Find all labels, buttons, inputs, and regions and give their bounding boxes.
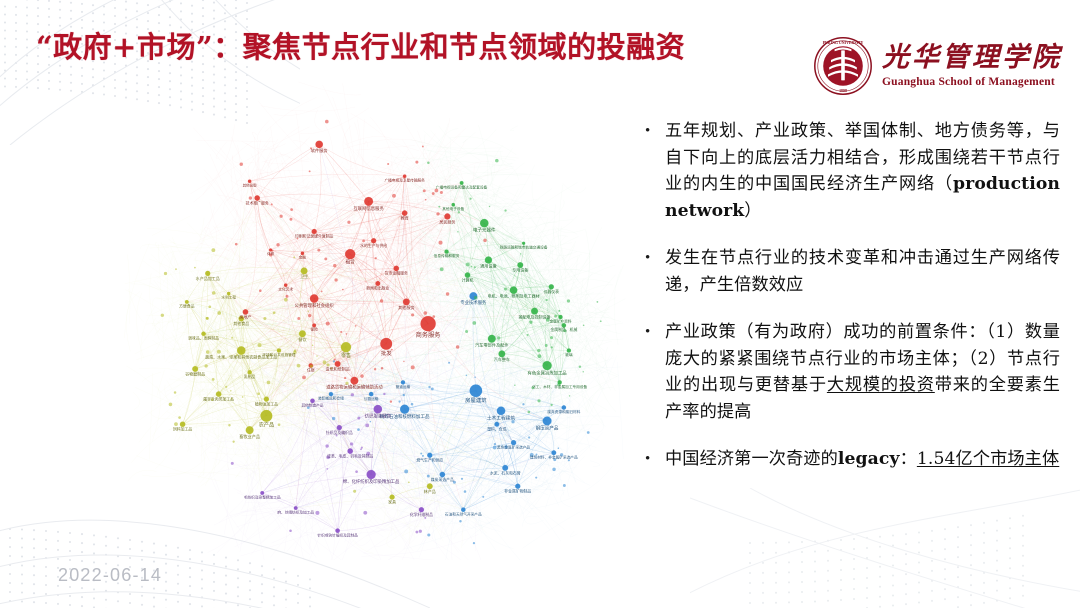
graph-node-label: 饲料加工品 [173,427,192,432]
graph-node [248,180,251,183]
graph-node [299,330,306,337]
graph-node [329,392,333,396]
graph-node [345,249,355,259]
graph-node-label: 其他制造产品 [301,402,323,407]
bullet-item: •中国经济第一次奇迹的legacy：1.54亿个市场主体 [640,446,1060,473]
graph-node-label: 化工、木材、非金属加工专用设备 [532,384,587,389]
graph-node [351,377,359,385]
graph-node [294,506,298,510]
graph-node-label: 乳制品 [244,374,256,379]
school-logo: PEKING UNIVERSITY 1898 光华管理学院 Guanghua S… [813,36,1062,96]
graph-node-label: 水利工程 [221,295,236,300]
graph-node [543,361,552,370]
graph-node-label: 信息传输和服务 [434,253,460,258]
graph-node-label: 公路运输 [364,396,379,401]
graph-node-label: 输配电及控制设备 [518,313,550,319]
graph-node [335,528,339,532]
graph-node-label: 调味品、发酵制品 [188,336,219,341]
graph-node-label: 计算机 [461,277,473,283]
graph-node-label: 家具 [388,499,396,504]
graph-node-label: 零售 [341,352,351,359]
graph-node-label: 谷物磨制品 [185,371,205,377]
svg-text:PEKING UNIVERSITY: PEKING UNIVERSITY [823,41,864,45]
graph-node-label: 广播电视设备和雷达及配套设备 [436,184,488,189]
graph-node [445,250,449,254]
graph-node [277,349,281,353]
graph-node-label: 其他电子设备 [442,206,464,211]
graph-node [470,385,482,397]
bullet-marker: • [640,319,665,345]
graph-node [227,292,230,295]
graph-node-label: 批发 [381,349,392,357]
graph-node-label: 针织或钩针编织及其制品 [317,532,358,537]
graph-node-label: 货币金融服务 [385,271,408,276]
graph-node-label: 土木工程建筑 [487,414,515,421]
graph-node-label: 水的生产与供给 [360,243,387,248]
graph-node-label: 金属矿产资料 [549,319,571,324]
bullet-text: 中国经济第一次奇迹的legacy：1.54亿个市场主体 [665,446,1060,473]
bullet-emphasis: legacy [838,449,900,469]
graph-node [543,417,552,426]
graph-node-label: 居民服务 [439,218,455,224]
graph-node [403,175,406,178]
bullet-item: •五年规划、产业政策、举国体制、地方债务等，与自下向上的底层活力相结合，形成围绕… [640,118,1060,224]
graph-node-label: 煤炭采选产品 [431,477,454,482]
graph-node-label: 房屋建筑 [465,396,487,404]
graph-node-label: 其他出版 [243,182,257,187]
graph-node [301,252,304,255]
graph-node-label: 麻、丝绢纺织及加工品 [277,509,314,514]
graph-node [461,508,465,512]
graph-node [452,203,455,206]
graph-node [312,324,316,328]
graph-node-label: 针织品及编织品 [326,430,353,435]
graph-node-label: 电机、电池、照明及电工器材 [487,293,539,299]
graph-node [380,338,392,350]
bullet-emphasis: production network [665,174,1060,221]
graph-node-label: 通用设备 [480,263,498,269]
graph-node-label: 方便食品 [179,303,195,308]
date-stamp: 2022-06-14 [58,565,162,586]
graph-node [260,491,264,495]
peking-university-seal-icon: PEKING UNIVERSITY 1898 [813,36,873,96]
logo-chinese-name: 光华管理学院 [882,44,1062,72]
graph-node-label: 黑色金属矿采选产品 [497,445,530,450]
graph-node [522,242,525,245]
graph-node-label: 农产品 [259,421,275,429]
graph-node-label: 毛纺织及染整精加工品 [244,494,281,499]
graph-node [421,316,436,331]
graph-node-label: 玻璃 [565,352,573,357]
bullet-item: •产业政策（有为政府）成功的前置条件：（1）数量庞大的紧紧围绕节点行业的市场主体… [640,319,1060,425]
graph-node-label: 其他食品 [233,320,249,326]
bullet-text: 五年规划、产业政策、举国体制、地方债务等，与自下向上的底层活力相结合，形成围绕若… [665,118,1060,224]
graph-node-label: 非金属矿物制品 [504,488,531,493]
svg-text:1898: 1898 [839,89,847,93]
graph-node-label: 住宿 [307,367,315,372]
graph-node [403,299,410,306]
bullet-text: 产业政策（有为政府）成功的前置条件：（1）数量庞大的紧紧围绕节点行业的市场主体；… [665,319,1060,425]
graph-node-label: 技术推广服务 [246,200,269,205]
graph-node-label: 餐饮 [298,336,307,342]
graph-node [315,141,322,148]
graph-node [497,407,505,415]
graph-node [310,399,314,403]
graph-node [480,219,488,227]
graph-node-label: 专用设备 [512,267,528,273]
graph-node-label: 汽车零部件及配件 [475,342,508,348]
graph-node [284,283,287,286]
logo-english-name: Guanghua School of Management [882,76,1055,88]
bullet-text: 发生在节点行业的技术变革和冲击通过生产网络传递，产生倍数效应 [665,245,1060,298]
graph-node-label: 造纸和纸制品 [326,366,350,372]
graph-node-label: 皮革、毛皮、羽毛及其制品 [327,453,373,458]
bullet-marker: • [640,245,665,271]
graph-node-label: 化学纤维制品 [410,512,433,517]
graph-node [460,181,464,185]
bullet-item: •发生在节点行业的技术变革和冲击通过生产网络传递，产生倍数效应 [640,245,1060,298]
graph-node-label: 环境和公共设施管理 [262,352,295,357]
graph-node [374,405,382,413]
graph-node-label: 体育 [267,251,274,256]
graph-node [511,440,516,445]
graph-node-label: 畜牧业产品 [239,433,260,439]
graph-node [369,392,373,396]
graph-node [237,346,245,354]
graph-node [310,294,318,302]
graph-node [261,410,273,422]
graph-node-label: 金属制品、机械 [550,327,577,332]
graph-node-label: 管道运输 [396,384,411,389]
graph-node [567,349,571,353]
graph-node-label: 汽车整车 [494,356,510,362]
graph-node-label: 金融 [299,254,306,259]
graph-node-label: 其他服务 [398,304,415,310]
graph-node-label: 植物油加工品 [255,401,278,406]
bullet-marker: • [640,118,665,144]
graph-node-label: 石油和天然气开采产品 [445,511,482,516]
slide-root: “政府+市场”：聚焦节点行业和节点领域的投融资 PEKING UNIVERSIT… [0,0,1080,608]
graph-node-label: 林产品 [424,488,436,494]
graph-node-label: 建筑材料、非金属矿采选产品 [530,455,578,460]
graph-node [367,470,376,479]
graph-node-label: 房地产 [239,313,251,319]
graph-node-label: 水泥、石灰和石膏 [490,470,521,475]
graph-node [401,380,405,384]
graph-node-label: 保险 [310,327,318,332]
graph-node-label: 废弃资源和废旧材料 [547,409,580,414]
graph-node [341,342,351,352]
bullet-underline: 大规模的投资 [827,375,935,395]
graph-node [246,426,254,434]
graph-node-label: 商务服务 [416,331,441,339]
graph-node-label: 教育 [401,215,409,221]
graph-node-label: 装卸搬运和仓储 [318,396,344,401]
bullet-list: •五年规划、产业政策、举国体制、地方债务等，与自下向上的底层活力相结合，形成围绕… [640,118,1060,494]
graph-node [485,257,492,264]
graph-node-label: 水产品加工品 [196,275,220,281]
graph-node [364,197,373,206]
graph-node-label: 新闻和出版业 [366,285,389,290]
graph-node [400,405,409,414]
graph-node-label: 文化艺术 [278,286,293,291]
graph-node [510,286,517,293]
graph-node-label: 铁路运输和城市轨道交通设备 [500,244,548,249]
graph-node-label: 卫生 [300,273,308,279]
graph-node-label: 仪器仪表 [544,289,560,294]
graph-node [562,405,566,409]
graph-node-label: 塑料、合成 [487,426,506,431]
bullet-underline: 1.54亿个市场主体 [917,449,1059,469]
graph-node [551,450,556,455]
production-network-graph: 软件服务广播电视及卫星传输服务技术推广服务互联网信息服务居民服务其他出版印刷和记… [52,74,640,560]
bullet-marker: • [640,446,665,472]
graph-node-label: 软件服务 [311,147,328,153]
graph-node [488,335,496,343]
graph-node-label: 广播电视及卫星传输服务 [384,177,425,182]
page-title: “政府+市场”：聚焦节点行业和节点领域的投融资 [36,24,685,66]
graph-node [558,315,562,319]
graph-node-label: 燃气生产和供应 [416,457,443,462]
decor-bottom-right [690,488,1080,608]
graph-node-label: 屠宰及肉类加工品 [203,396,234,401]
graph-node-label: 印刷和记录媒介复制品 [295,234,334,239]
